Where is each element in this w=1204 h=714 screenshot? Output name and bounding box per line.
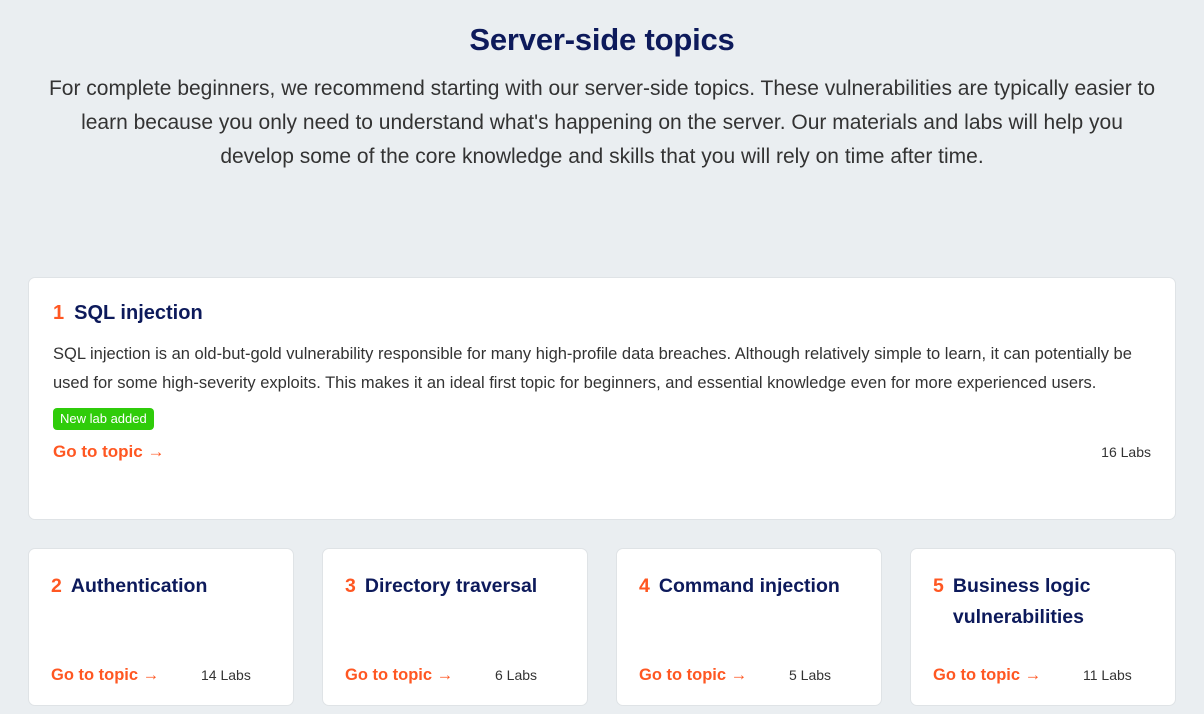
go-to-topic-label: Go to topic bbox=[53, 442, 143, 461]
page-intro-text: For complete beginners, we recommend sta… bbox=[47, 72, 1157, 174]
go-to-topic-link[interactable]: Go to topic → bbox=[933, 663, 1083, 687]
new-lab-badge: New lab added bbox=[53, 408, 154, 430]
topic-title: Command injection bbox=[659, 571, 840, 602]
topic-card-footer: Go to topic → 14 Labs bbox=[51, 663, 271, 687]
go-to-topic-label: Go to topic bbox=[639, 666, 726, 684]
topic-card-directory-traversal[interactable]: 3 Directory traversal Go to topic → 6 La… bbox=[322, 548, 588, 706]
topic-title: SQL injection bbox=[74, 300, 203, 326]
go-to-topic-link[interactable]: Go to topic → bbox=[639, 663, 789, 687]
page-title: Server-side topics bbox=[28, 0, 1176, 60]
topic-card-footer: Go to topic → 11 Labs bbox=[933, 663, 1153, 687]
arrow-right-icon: → bbox=[1025, 666, 1042, 684]
go-to-topic-link[interactable]: Go to topic → bbox=[51, 663, 201, 687]
arrow-right-icon: → bbox=[437, 666, 454, 684]
go-to-topic-label: Go to topic bbox=[51, 666, 138, 684]
topic-card-header: 3 Directory traversal bbox=[345, 571, 565, 663]
labs-count: 11 Labs bbox=[1083, 665, 1132, 685]
labs-count: 14 Labs bbox=[201, 665, 251, 685]
topic-card-authentication[interactable]: 2 Authentication Go to topic → 14 Labs bbox=[28, 548, 294, 706]
labs-count: 16 Labs bbox=[1101, 442, 1151, 462]
go-to-topic-label: Go to topic bbox=[345, 666, 432, 684]
topic-card-row: 2 Authentication Go to topic → 14 Labs 3… bbox=[28, 548, 1176, 706]
page-container: Server-side topics For complete beginner… bbox=[0, 0, 1204, 714]
topic-title: Business logic vulnerabilities bbox=[953, 571, 1153, 633]
topic-card-header: 2 Authentication bbox=[51, 571, 271, 663]
topic-card-footer: Go to topic → 6 Labs bbox=[345, 663, 565, 687]
topic-number: 4 bbox=[639, 571, 650, 602]
topic-card-business-logic-vulnerabilities[interactable]: 5 Business logic vulnerabilities Go to t… bbox=[910, 548, 1176, 706]
go-to-topic-link[interactable]: Go to topic → bbox=[345, 663, 495, 687]
topic-card-footer: Go to topic → 5 Labs bbox=[639, 663, 859, 687]
arrow-right-icon: → bbox=[143, 666, 160, 684]
labs-count: 6 Labs bbox=[495, 665, 537, 685]
topic-number: 3 bbox=[345, 571, 356, 602]
topic-card-header: 5 Business logic vulnerabilities bbox=[933, 571, 1153, 663]
topic-title: Authentication bbox=[71, 571, 208, 602]
go-to-topic-link[interactable]: Go to topic → bbox=[53, 440, 164, 464]
topics-list: 1 SQL injection SQL injection is an old-… bbox=[28, 277, 1176, 706]
arrow-right-icon: → bbox=[731, 666, 748, 684]
topic-description: SQL injection is an old-but-gold vulnera… bbox=[53, 340, 1151, 398]
topic-number: 2 bbox=[51, 571, 62, 602]
topic-number: 1 bbox=[53, 300, 64, 326]
topic-card-sql-injection[interactable]: 1 SQL injection SQL injection is an old-… bbox=[28, 277, 1176, 520]
labs-count: 5 Labs bbox=[789, 665, 831, 685]
go-to-topic-label: Go to topic bbox=[933, 666, 1020, 684]
topic-card-header: 1 SQL injection bbox=[53, 300, 1151, 326]
topic-number: 5 bbox=[933, 571, 944, 602]
topic-title: Directory traversal bbox=[365, 571, 537, 602]
topic-card-command-injection[interactable]: 4 Command injection Go to topic → 5 Labs bbox=[616, 548, 882, 706]
topic-card-footer: Go to topic → 16 Labs bbox=[53, 440, 1151, 464]
arrow-right-icon: → bbox=[147, 442, 164, 461]
topic-card-header: 4 Command injection bbox=[639, 571, 859, 663]
